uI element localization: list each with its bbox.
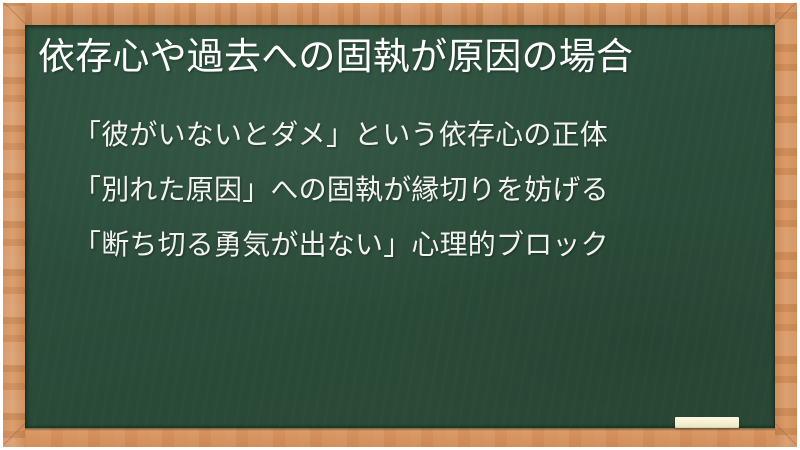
bullet-item-2: 「別れた原因」への固執が縁切りを妨げる — [73, 162, 763, 217]
frame-right-stile — [775, 3, 797, 447]
bullet-item-3: 「断ち切る勇気が出ない」心理的ブロック — [73, 217, 763, 272]
chalkboard-surface: 依存心や過去への固執が原因の場合 「彼がいないとダメ」という依存心の正体 「別れ… — [25, 25, 775, 428]
slide-title: 依存心や過去への固執が原因の場合 — [38, 33, 764, 80]
frame-left-stile — [3, 3, 25, 447]
chalk-stick-icon — [675, 417, 739, 428]
bullet-item-1: 「彼がいないとダメ」という依存心の正体 — [73, 107, 763, 162]
blackboard-wooden-frame: 依存心や過去への固執が原因の場合 「彼がいないとダメ」という依存心の正体 「別れ… — [3, 3, 797, 447]
bullet-list: 「彼がいないとダメ」という依存心の正体 「別れた原因」への固執が縁切りを妨げる … — [73, 107, 763, 272]
slide-canvas: 依存心や過去への固執が原因の場合 「彼がいないとダメ」という依存心の正体 「別れ… — [0, 0, 800, 450]
board-bottom-shadow — [25, 428, 775, 431]
frame-top-rail — [3, 3, 797, 25]
